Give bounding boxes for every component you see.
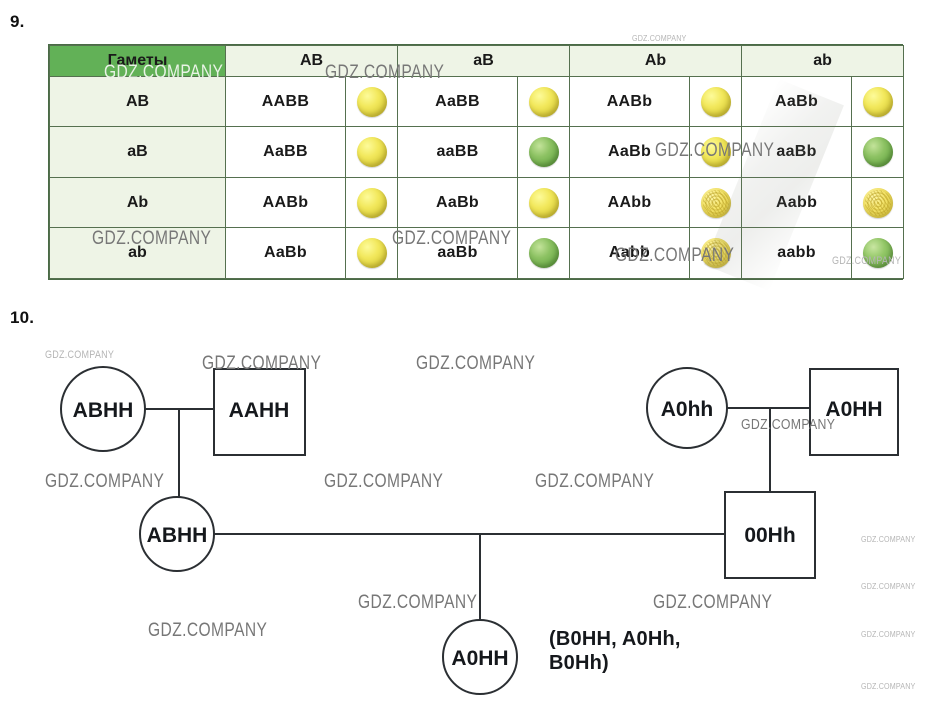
pedigree-node-father-gen2[interactable]: 00Hh [725, 492, 815, 578]
genotype-cell-r3-c0: AaBb [226, 228, 346, 279]
node-label-father-gen1-left: AAHH [229, 399, 290, 422]
pea-seed-icon [701, 137, 731, 167]
offspring-note-line-2: B0Hh) [549, 651, 681, 675]
seed-cell-r0-c0 [346, 76, 398, 127]
pedigree-node-child-gen3[interactable]: A0HH [443, 620, 517, 694]
punnett-square-table: Гаметы AB aB Ab ab ABAABBAaBBAABbAaBbaBA… [48, 44, 903, 280]
worksheet-page: 9. Гаметы AB aB Ab ab ABAABBAaBBAABbAaBb… [0, 0, 949, 724]
genotype-cell-r3-c1: aaBb [398, 228, 518, 279]
pea-seed-icon [863, 238, 893, 268]
genotype-cell-r1-c2: AaBb [570, 127, 690, 178]
seed-cell-r0-c2 [690, 76, 742, 127]
seed-cell-r1-c0 [346, 127, 398, 178]
seed-cell-r3-c3 [852, 228, 904, 279]
pea-seed-icon [863, 188, 893, 218]
pea-seed-icon [701, 238, 731, 268]
pea-seed-icon [701, 188, 731, 218]
pea-seed-icon [529, 188, 559, 218]
seed-cell-r2-c0 [346, 177, 398, 228]
row-header-1: aB [50, 127, 226, 178]
genotype-cell-r2-c1: AaBb [398, 177, 518, 228]
pea-seed-icon [357, 238, 387, 268]
table-row: ABAABBAaBBAABbAaBb [50, 76, 904, 127]
node-label-mother-gen1-left: ABHH [73, 399, 134, 422]
offspring-genotypes-note: (B0HH, A0Hh, B0Hh) [549, 627, 681, 676]
node-label-father-gen1-right: A0HH [825, 398, 882, 421]
genotype-cell-r0-c1: AaBB [398, 76, 518, 127]
gametes-corner-label: Гаметы [50, 46, 226, 77]
watermark-wm-3: GDZ.COMPANY [632, 33, 686, 43]
pedigree-node-father-gen1-right[interactable]: A0HH [810, 369, 898, 455]
seed-cell-r2-c1 [518, 177, 570, 228]
pea-seed-icon [701, 87, 731, 117]
genotype-cell-r2-c3: Aabb [742, 177, 852, 228]
genotype-cell-r3-c3: aabb [742, 228, 852, 279]
pedigree-node-mother-gen1-right[interactable]: A0hh [647, 368, 727, 448]
genotype-cell-r0-c0: AABB [226, 76, 346, 127]
column-header-2: Ab [570, 46, 742, 77]
seed-cell-r2-c2 [690, 177, 742, 228]
genotype-cell-r0-c3: AaBb [742, 76, 852, 127]
seed-cell-r0-c3 [852, 76, 904, 127]
genotype-cell-r1-c1: aaBB [398, 127, 518, 178]
genotype-cell-r2-c0: AABb [226, 177, 346, 228]
pedigree-node-mother-gen1-left[interactable]: ABHH [61, 367, 145, 451]
node-label-mother-gen1-right: A0hh [661, 398, 714, 421]
pedigree-node-father-gen1-left[interactable]: AAHH [214, 369, 305, 455]
genotype-cell-r2-c2: AAbb [570, 177, 690, 228]
pea-seed-icon [529, 137, 559, 167]
seed-cell-r1-c2 [690, 127, 742, 178]
node-label-child-gen3: A0HH [451, 647, 508, 670]
seed-cell-r3-c0 [346, 228, 398, 279]
seed-cell-r3-c2 [690, 228, 742, 279]
genotype-cell-r1-c0: AaBB [226, 127, 346, 178]
genotype-cell-r3-c2: Aabb [570, 228, 690, 279]
genotype-cell-r0-c2: AABb [570, 76, 690, 127]
table-row: AbAABbAaBbAAbbAabb [50, 177, 904, 228]
pedigree-node-mother-gen2[interactable]: ABHH [140, 497, 214, 571]
offspring-note-line-1: (B0HH, A0Hh, [549, 627, 681, 651]
pea-seed-icon [357, 87, 387, 117]
seed-cell-r0-c1 [518, 76, 570, 127]
table-row: abAaBbaaBbAabbaabb [50, 228, 904, 279]
punnett-table: Гаметы AB aB Ab ab ABAABBAaBBAABbAaBbaBA… [49, 45, 904, 279]
pedigree-svg: ABHH AAHH A0hh A0HH ABHH [0, 300, 949, 724]
pea-seed-icon [529, 238, 559, 268]
row-header-2: Ab [50, 177, 226, 228]
pedigree-chart: ABHH AAHH A0hh A0HH ABHH [0, 300, 949, 724]
pea-seed-icon [863, 137, 893, 167]
pea-seed-icon [357, 188, 387, 218]
column-header-0: AB [226, 46, 398, 77]
genotype-cell-r1-c3: aaBb [742, 127, 852, 178]
column-header-1: aB [398, 46, 570, 77]
table-header-row: Гаметы AB aB Ab ab [50, 46, 904, 77]
pea-seed-icon [529, 87, 559, 117]
task-9-number: 9. [10, 12, 25, 32]
seed-cell-r1-c1 [518, 127, 570, 178]
node-label-father-gen2: 00Hh [744, 524, 795, 547]
seed-cell-r2-c3 [852, 177, 904, 228]
pea-seed-icon [863, 87, 893, 117]
row-header-0: AB [50, 76, 226, 127]
table-row: aBAaBBaaBBAaBbaaBb [50, 127, 904, 178]
seed-cell-r3-c1 [518, 228, 570, 279]
node-label-mother-gen2: ABHH [147, 524, 208, 547]
seed-cell-r1-c3 [852, 127, 904, 178]
pea-seed-icon [357, 137, 387, 167]
column-header-3: ab [742, 46, 904, 77]
row-header-3: ab [50, 228, 226, 279]
